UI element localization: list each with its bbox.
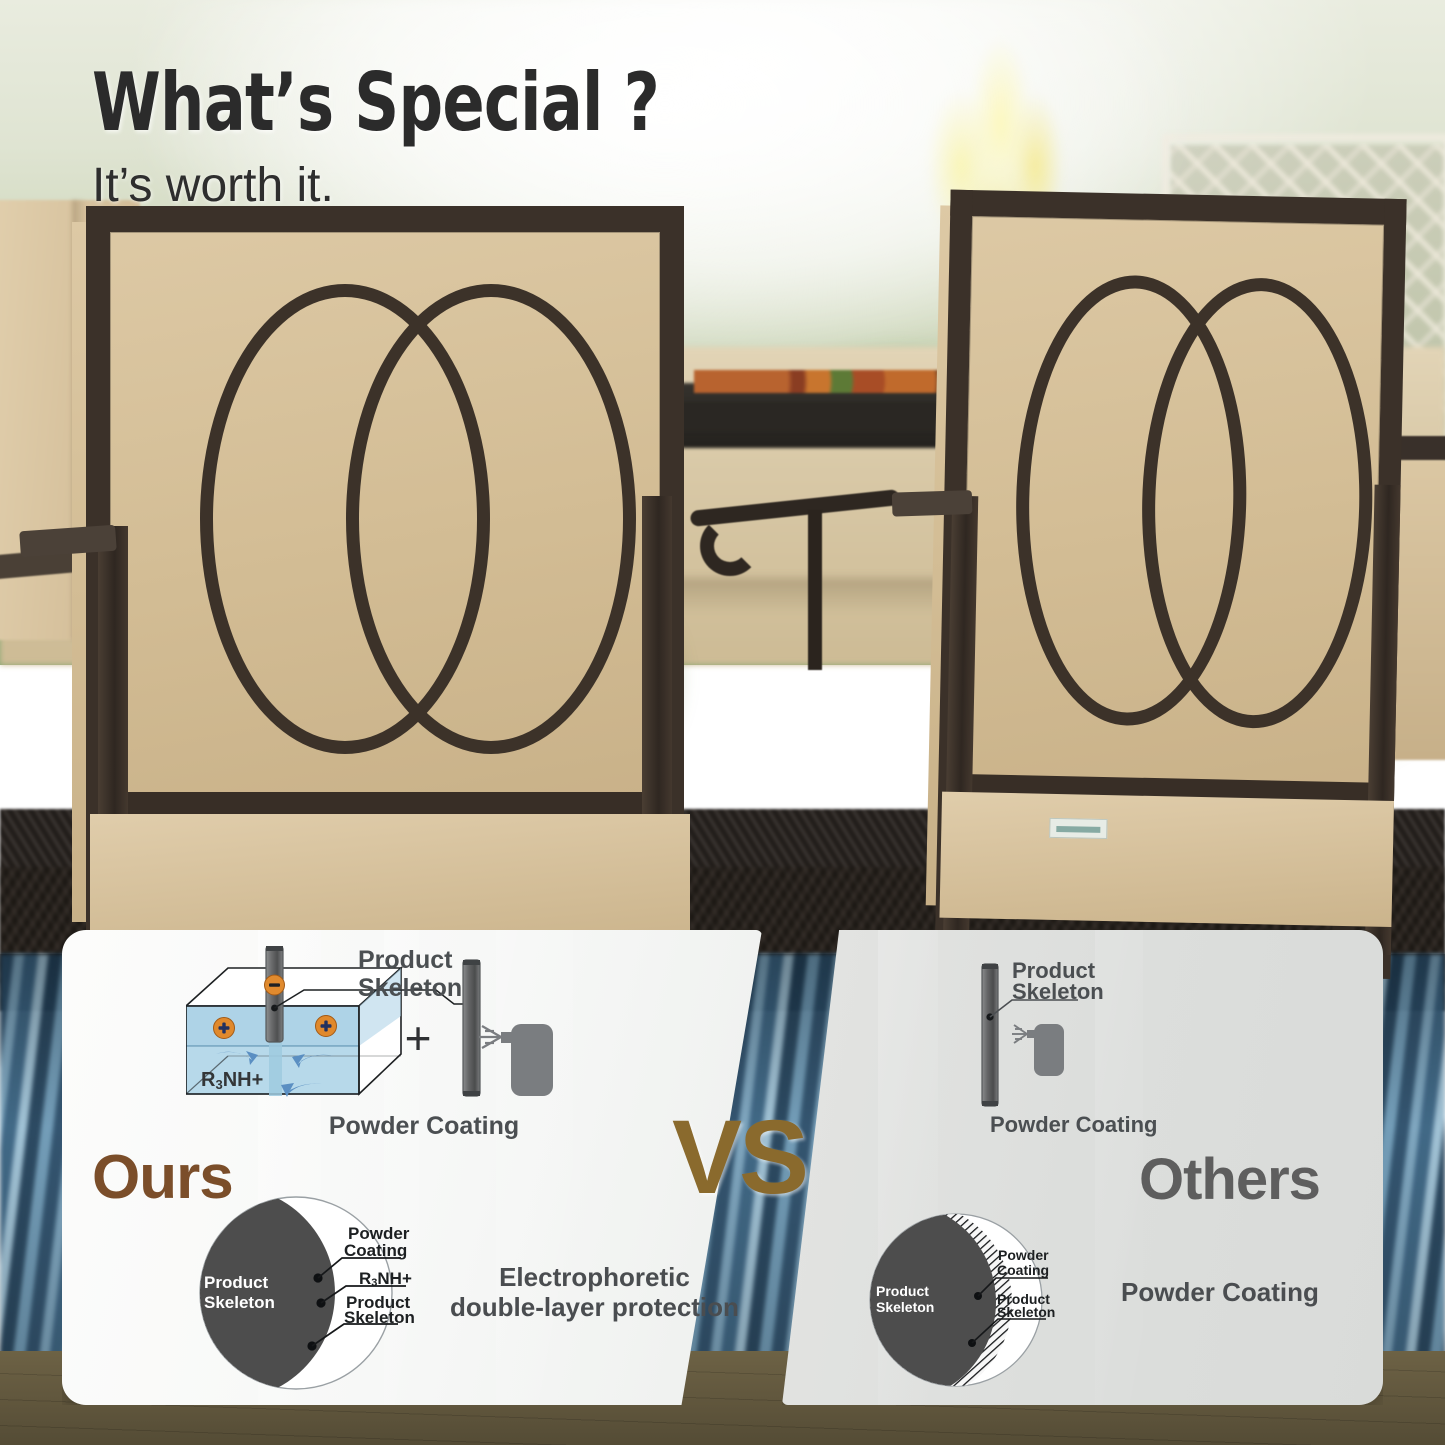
others-panel: [782, 930, 1383, 1405]
page-subtitle: It’s worth it.: [92, 158, 819, 213]
background-chair: [690, 430, 920, 660]
foreground-chair-left: [30, 196, 690, 956]
chair-seat-cushion: [939, 792, 1394, 927]
chair-armrest: [892, 490, 973, 517]
foreground-chair-right: [887, 175, 1423, 946]
page-title: What’s Special ?: [92, 62, 659, 144]
headline-block: What’s Special ? It’s worth it.: [92, 62, 819, 213]
product-infographic: What’s Special ? It’s worth it.: [0, 0, 1445, 1445]
chair-care-tag: [1049, 818, 1107, 839]
ours-panel: [62, 930, 762, 1405]
chair-seat-cushion: [90, 814, 690, 944]
